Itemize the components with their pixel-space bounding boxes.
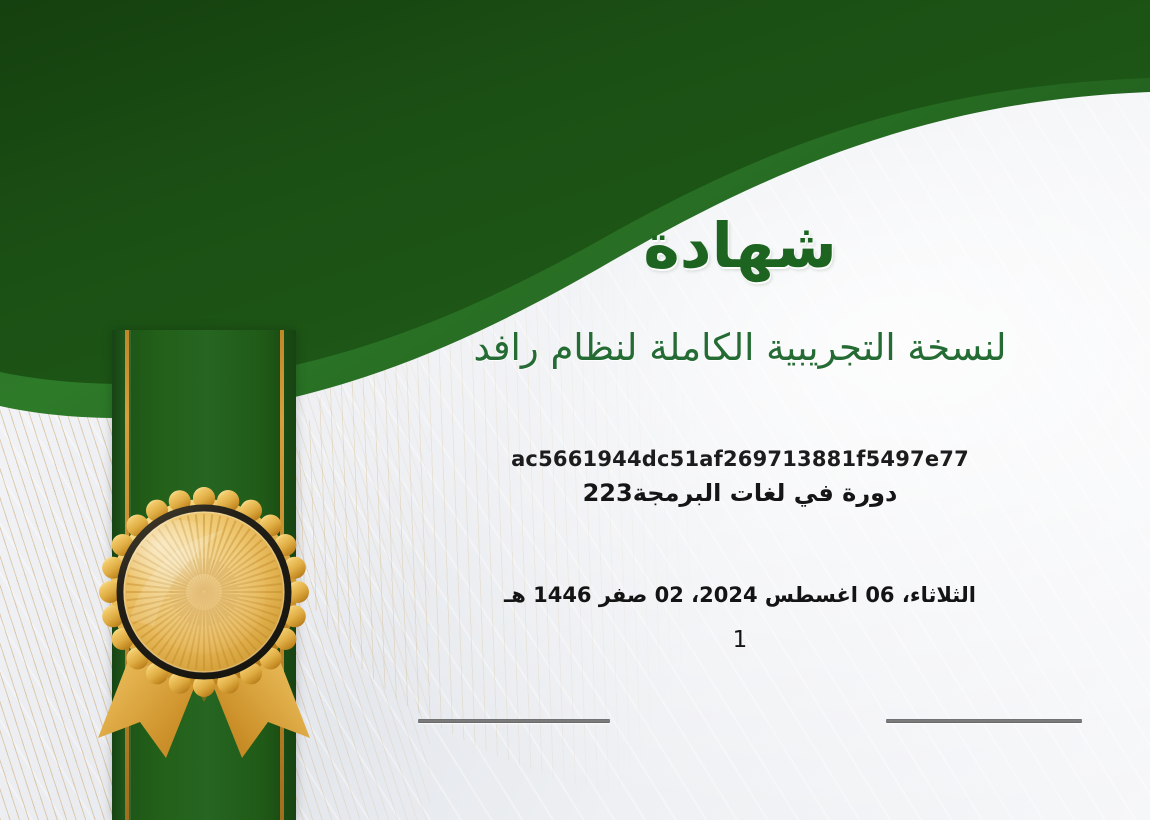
signature-line-right [886,719,1082,723]
course-name: دورة في لغات البرمجة223 [330,479,1150,507]
signature-line-left [418,719,610,723]
certificate-content: شهادة لنسخة التجريبية الكاملة لنظام رافد… [330,0,1150,820]
award-medal-icon [84,470,324,770]
page-number: 1 [330,627,1150,653]
certificate-hash: ac5661944dc51af269713881f5497e77 [330,447,1150,471]
issue-date: الثلاثاء، 06 اغسطس 2024، 02 صفر 1446 هـ [330,583,1150,607]
certificate-page: شهادة لنسخة التجريبية الكاملة لنظام رافد… [0,0,1150,820]
page-title: شهادة [330,212,1150,280]
certificate-subtitle: لنسخة التجريبية الكاملة لنظام رافد [330,325,1150,371]
